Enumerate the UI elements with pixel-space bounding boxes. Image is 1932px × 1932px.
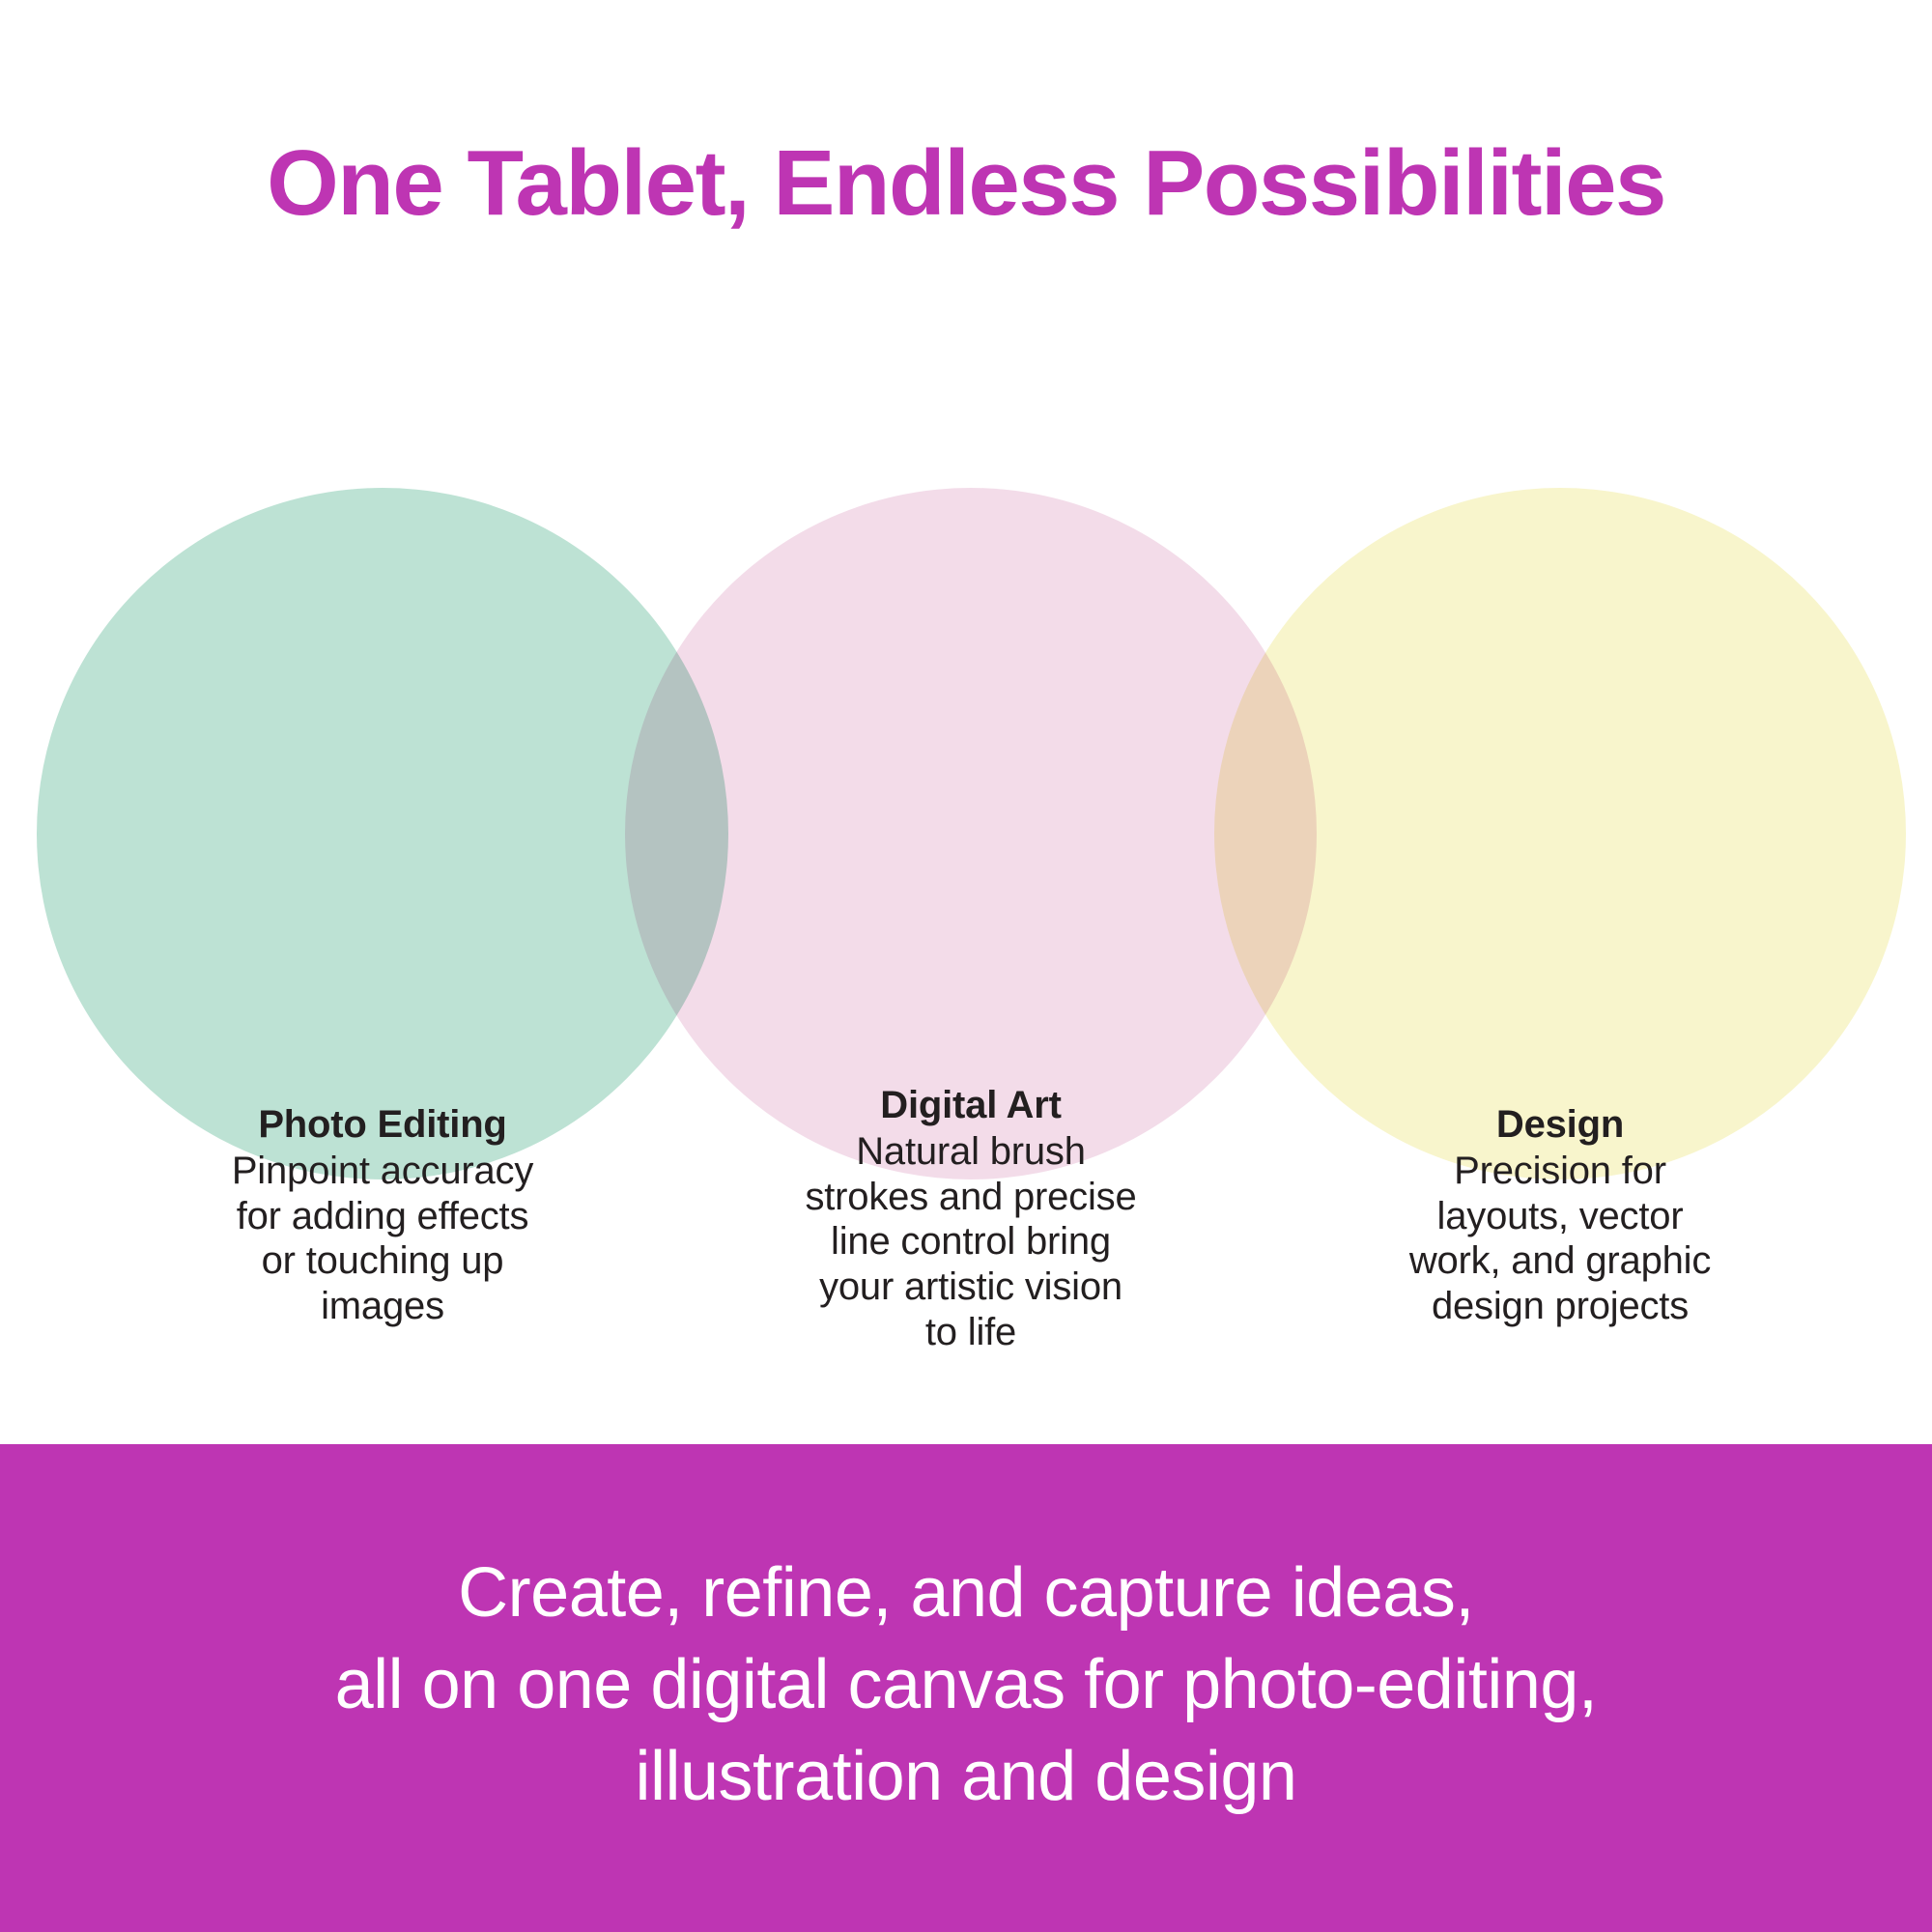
venn-label-design-title: Design [1299, 1101, 1821, 1149]
summary-banner: Create, refine, and capture ideas, all o… [0, 1444, 1932, 1932]
venn-label-digital-art-body: Natural brushstrokes and preciseline con… [710, 1129, 1232, 1355]
infographic-poster: One Tablet, Endless Possibilities Photo … [0, 0, 1932, 1932]
venn-circle-digital-art [625, 488, 1317, 1179]
venn-diagram: Photo Editing Pinpoint accuracyfor addin… [0, 425, 1932, 1236]
venn-label-photo-editing-title: Photo Editing [122, 1101, 643, 1149]
summary-line-2: all on one digital canvas for photo-edit… [335, 1639, 1598, 1731]
venn-label-design-body: Precision forlayouts, vectorwork, and gr… [1299, 1149, 1821, 1329]
venn-label-design: Design Precision forlayouts, vectorwork,… [1299, 1101, 1821, 1329]
venn-label-photo-editing: Photo Editing Pinpoint accuracyfor addin… [122, 1101, 643, 1329]
summary-line-3: illustration and design [335, 1731, 1598, 1823]
venn-label-photo-editing-body: Pinpoint accuracyfor adding effectsor to… [122, 1149, 643, 1329]
page-title: One Tablet, Endless Possibilities [0, 135, 1932, 233]
venn-label-digital-art-title: Digital Art [710, 1082, 1232, 1129]
summary-line-1: Create, refine, and capture ideas, [335, 1548, 1598, 1639]
venn-label-digital-art: Digital Art Natural brushstrokes and pre… [710, 1082, 1232, 1355]
summary-banner-text: Create, refine, and capture ideas, all o… [335, 1548, 1598, 1829]
venn-circle-design [1214, 488, 1906, 1179]
